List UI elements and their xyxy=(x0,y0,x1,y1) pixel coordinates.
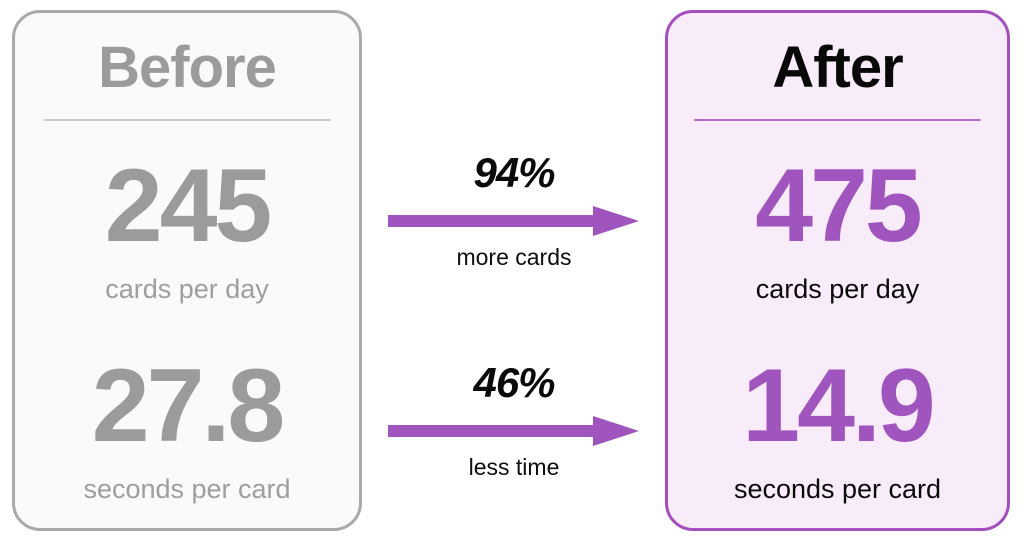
arrow-caption: less time xyxy=(382,456,646,479)
right-arrow-icon xyxy=(382,414,642,448)
before-stat-value: 27.8 xyxy=(15,357,359,456)
before-stat-cards-per-day: 245 cards per day xyxy=(15,157,359,303)
arrow-group-more-cards: 94% more cards xyxy=(382,152,646,269)
after-card-divider xyxy=(694,119,981,121)
before-card-divider xyxy=(44,119,331,121)
before-card: Before 245 cards per day 27.8 seconds pe… xyxy=(12,10,362,531)
arrow-graphic-wrap xyxy=(382,414,646,448)
comparison-figure: Before 245 cards per day 27.8 seconds pe… xyxy=(0,0,1036,555)
arrow-group-less-time: 46% less time xyxy=(382,362,646,479)
before-stat-label: cards per day xyxy=(15,276,359,303)
after-stat-cards-per-day: 475 cards per day xyxy=(668,157,1007,303)
after-stat-seconds-per-card: 14.9 seconds per card xyxy=(668,357,1007,503)
after-card: After 475 cards per day 14.9 seconds per… xyxy=(665,10,1010,531)
after-stat-value: 14.9 xyxy=(668,357,1007,456)
after-card-title: After xyxy=(772,39,902,97)
arrow-graphic-wrap xyxy=(382,204,646,238)
before-card-title: Before xyxy=(98,39,276,97)
after-stat-value: 475 xyxy=(668,157,1007,256)
before-stat-seconds-per-card: 27.8 seconds per card xyxy=(15,357,359,503)
arrow-percent-label: 46% xyxy=(382,362,646,404)
before-stat-label: seconds per card xyxy=(15,476,359,503)
right-arrow-icon xyxy=(382,204,642,238)
before-stat-value: 245 xyxy=(15,157,359,256)
arrow-percent-label: 94% xyxy=(382,152,646,194)
arrow-caption: more cards xyxy=(382,246,646,269)
after-stat-label: cards per day xyxy=(668,276,1007,303)
after-stat-label: seconds per card xyxy=(668,476,1007,503)
